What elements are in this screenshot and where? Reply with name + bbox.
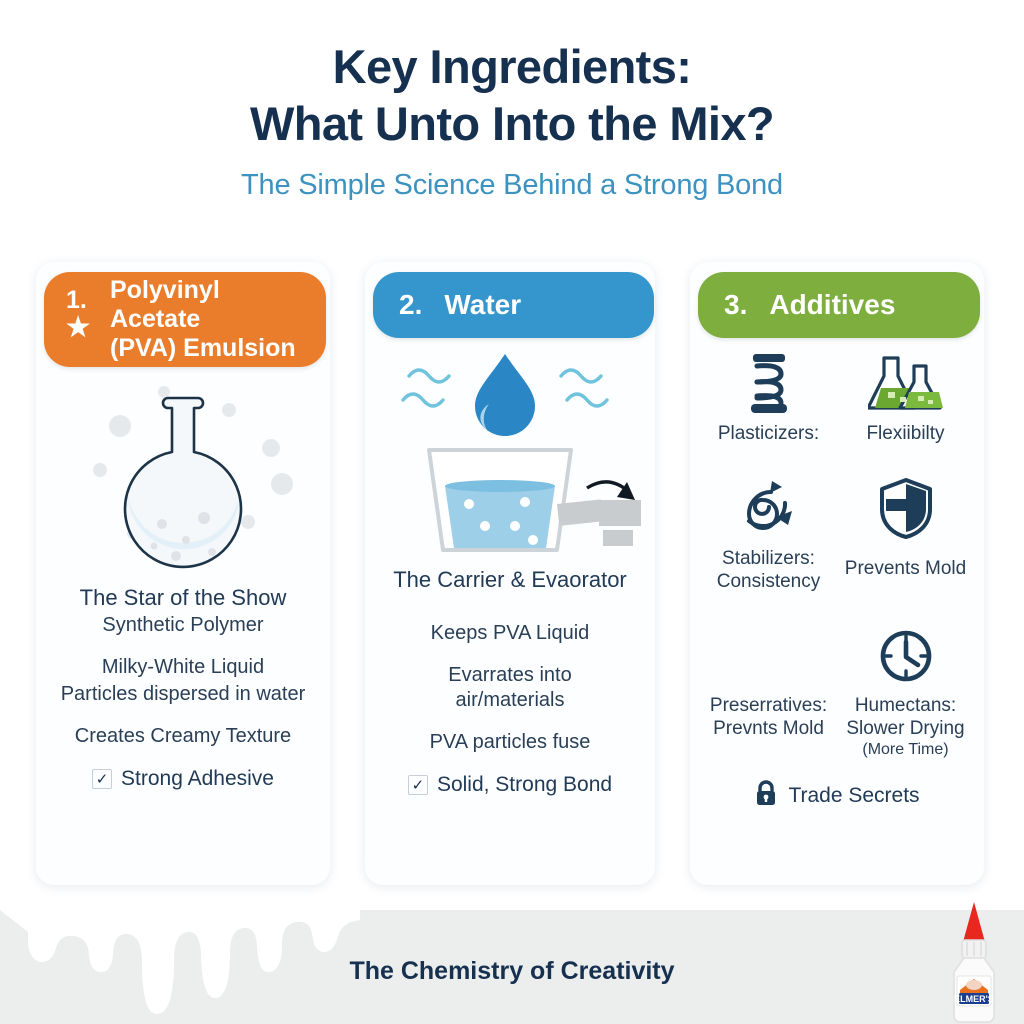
additive-humectants-caption-l3: (More Time) <box>837 740 974 760</box>
additive-stabilizers-caption: Stabilizers: Consistency <box>700 547 837 593</box>
card-pva-title-l2: Acetate <box>110 305 200 333</box>
shield-icon <box>837 473 974 539</box>
additive-prevents-mold-caption: Prevents Mold <box>837 557 974 580</box>
additive-plasticizers: Plasticizers: <box>700 348 837 445</box>
additive-flexibility: Flexiibilty <box>837 348 974 445</box>
additive-plasticizers-caption: Plasticizers: <box>700 422 837 445</box>
additive-stabilizers-caption-l1: Stabilizers: <box>722 548 815 569</box>
additive-preservatives: Preserratives: Prevnts Mold <box>700 620 837 760</box>
two-flasks-icon <box>837 348 974 414</box>
card-pva-title: Polyvinyl Acetate (PVA) Emulsion <box>110 276 296 364</box>
additive-humectants-caption-l2: Slower Drying <box>846 718 964 739</box>
infographic-page: Key Ingredients: What Unto Into the Mix?… <box>0 0 1024 1024</box>
card-water-header: 2. Water <box>373 272 654 338</box>
additive-preservatives-caption: Preserratives: Prevnts Mold <box>700 694 837 740</box>
star-icon: ★ <box>66 314 90 341</box>
check-icon: ✓ <box>408 775 428 795</box>
card-pva[interactable]: 1. ★ Polyvinyl Acetate (PVA) Emulsion <box>36 262 330 885</box>
spring-coil-icon <box>700 348 837 414</box>
card-pva-lead: The Star of the Show <box>36 585 330 611</box>
card-pva-line-0: Synthetic Polymer <box>36 613 330 639</box>
clock-icon <box>837 620 974 686</box>
page-subtitle: The Simple Science Behind a Strong Bond <box>0 169 1024 202</box>
lock-icon <box>754 779 778 812</box>
card-additives[interactable]: 3. Additives <box>690 262 984 885</box>
card-pva-line-1: Milky-White Liquid <box>36 655 330 681</box>
card-water-number: 2. <box>399 289 422 321</box>
additive-humectants-caption: Humectans: Slower Drying (More Time) <box>837 694 974 760</box>
card-water-line-0: Keeps PVA Liquid <box>365 621 655 647</box>
trade-secrets-label: Trade Secrets <box>788 784 919 808</box>
trade-secrets-row: Trade Secrets <box>700 779 974 812</box>
card-pva-check: ✓ Strong Adhesive <box>36 767 330 791</box>
page-header: Key Ingredients: What Unto Into the Mix?… <box>0 0 1024 202</box>
elmers-brand-text: ELMER'S <box>954 994 994 1004</box>
additive-prevents-mold: Prevents Mold <box>837 473 974 593</box>
card-additives-number: 3. <box>724 289 747 321</box>
card-pva-line-2: Particles dispersed in water <box>36 682 330 708</box>
spiral-arrows-icon <box>700 473 837 539</box>
page-title-line2: What Unto Into the Mix? <box>0 95 1024 152</box>
card-water[interactable]: 2. Water <box>365 262 655 885</box>
card-water-check: ✓ Solid, Strong Bond <box>365 773 655 797</box>
card-pva-check-label: Strong Adhesive <box>121 767 274 791</box>
page-title-line1: Key Ingredients: <box>0 38 1024 95</box>
card-water-title: Water <box>444 289 521 321</box>
card-pva-line-3: Creates Creamy Texture <box>36 724 330 750</box>
ingredient-cards: 1. ★ Polyvinyl Acetate (PVA) Emulsion <box>0 262 1024 887</box>
card-water-lead: The Carrier & Evaorator <box>365 567 655 593</box>
additive-preservatives-caption-l2: Prevnts Mold <box>713 718 824 739</box>
card-pva-title-l3: (PVA) Emulsion <box>110 334 296 362</box>
card-additives-header: 3. Additives <box>698 272 980 338</box>
card-pva-header: 1. ★ Polyvinyl Acetate (PVA) Emulsion <box>44 272 326 367</box>
card-water-check-label: Solid, Strong Bond <box>437 773 612 797</box>
check-icon: ✓ <box>92 769 112 789</box>
additive-preservatives-caption-l1: Preserratives: <box>710 695 827 716</box>
card-pva-title-l1: Polyvinyl <box>110 276 220 304</box>
glue-bottle-icon: ELMER'S <box>936 898 1012 1024</box>
footer-tagline: The Chemistry of Creativity <box>0 957 1024 986</box>
card-water-line-2: PVA particles fuse <box>365 730 655 756</box>
additive-humectants: Humectans: Slower Drying (More Time) <box>837 620 974 760</box>
card-additives-title: Additives <box>769 289 895 321</box>
card-pva-number: 1. <box>66 286 87 315</box>
card-water-line-1: Evarrates into air/materials <box>365 663 655 714</box>
additive-flexibility-caption: Flexiibilty <box>837 422 974 445</box>
page-footer: The Chemistry of Creativity ELMER'S <box>0 910 1024 1024</box>
flask-illustration <box>36 374 330 579</box>
additive-stabilizers: Stabilizers: Consistency <box>700 473 837 593</box>
additive-humectants-caption-l1: Humectans: <box>855 695 956 716</box>
additives-grid: Plasticizers: <box>690 348 984 812</box>
water-glass-illustration <box>365 346 655 561</box>
additive-stabilizers-caption-l2: Consistency <box>717 571 821 592</box>
